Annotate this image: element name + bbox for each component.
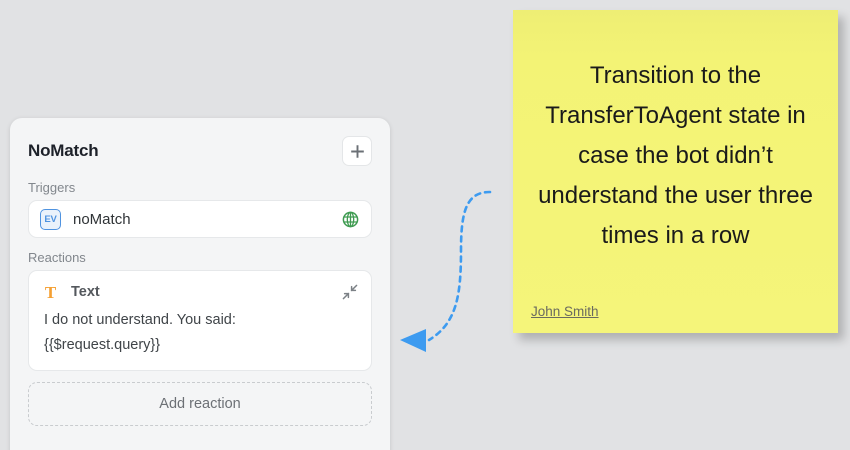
sticky-note-text: Transition to the TransferToAgent state …	[527, 56, 824, 304]
triggers-section-label: Triggers	[28, 180, 372, 195]
sticky-note-author[interactable]: John Smith	[531, 304, 599, 319]
trigger-row-nomatch[interactable]: EV noMatch	[28, 200, 372, 238]
state-panel: NoMatch Triggers EV noMatch Reactions T …	[10, 118, 390, 450]
collapse-icon[interactable]	[342, 284, 358, 300]
sticky-note[interactable]: Transition to the TransferToAgent state …	[513, 10, 838, 333]
plus-icon	[350, 144, 365, 159]
trigger-name-label: noMatch	[73, 211, 342, 228]
reaction-body-text: I do not understand. You said: {{$reques…	[44, 308, 274, 358]
connector-arrow	[395, 180, 525, 360]
add-reaction-button[interactable]: Add reaction	[28, 382, 372, 426]
reaction-card-text[interactable]: T Text I do not understand. You said: {{…	[28, 270, 372, 371]
connector-arrowhead-icon	[400, 329, 426, 352]
add-trigger-button[interactable]	[342, 136, 372, 166]
panel-header: NoMatch	[28, 134, 372, 168]
text-type-icon: T	[42, 284, 59, 301]
globe-icon[interactable]	[342, 211, 359, 228]
page-title: NoMatch	[28, 141, 98, 161]
reactions-section-label: Reactions	[28, 250, 372, 265]
connector-dashed-line	[429, 192, 490, 340]
reaction-card-header: T Text	[42, 281, 358, 303]
reaction-title-label: Text	[71, 284, 342, 300]
event-badge-icon: EV	[40, 209, 61, 230]
